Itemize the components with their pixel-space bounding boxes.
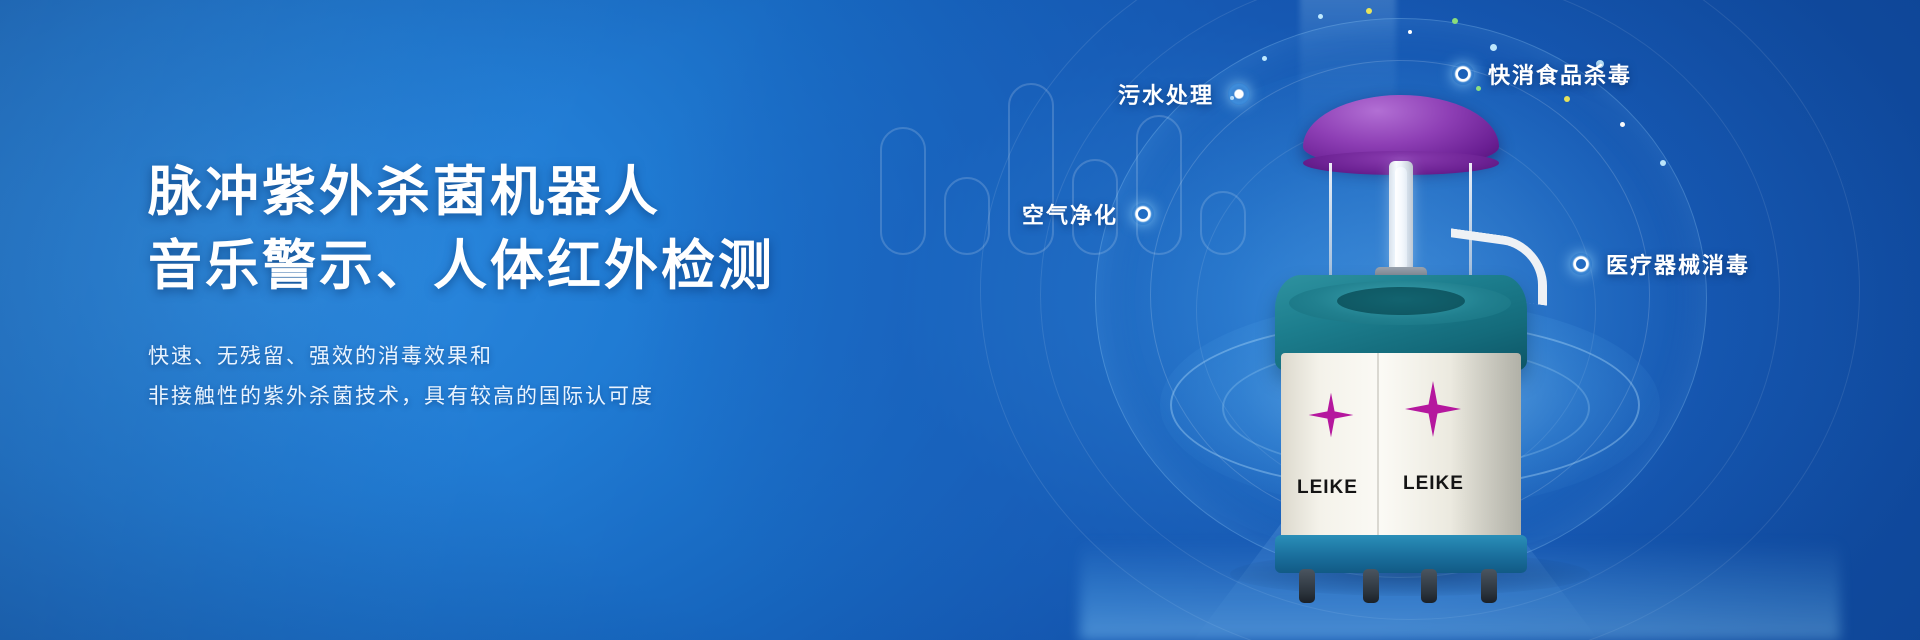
callout-medical-device-disinfection: 医疗器械消毒: [1570, 248, 1750, 280]
caster-wheel: [1363, 569, 1379, 603]
callout-label: 快消食品杀毒: [1488, 58, 1632, 90]
subcopy-block: 快速、无残留、强效的消毒效果和 非接触性的紫外杀菌技术，具有较高的国际认可度: [148, 337, 908, 417]
cabinet-base: [1275, 535, 1527, 573]
uv-lamp-tube-icon: [1395, 167, 1407, 271]
sparkle-dot: [1452, 18, 1458, 24]
sparkle-dot: [1318, 14, 1323, 19]
headline-line-1: 脉冲紫外杀菌机器人: [148, 155, 908, 229]
callout-node-icon: [1132, 203, 1154, 225]
subcopy-line-2: 非接触性的紫外杀菌技术，具有较高的国际认可度: [148, 377, 908, 417]
callout-node-icon: [1228, 83, 1250, 105]
subcopy-line-1: 快速、无残留、强效的消毒效果和: [148, 337, 908, 377]
callout-node-icon: [1570, 253, 1592, 275]
callout-label: 空气净化: [1022, 198, 1118, 230]
wave-bar: [944, 177, 990, 255]
sparkle-dot: [1262, 56, 1267, 61]
headline-line-2: 音乐警示、人体红外检测: [148, 229, 908, 303]
sparkle-dot: [1620, 122, 1625, 127]
sparkle-dot: [1490, 44, 1497, 51]
cabinet-body-edge: [1377, 353, 1379, 543]
callout-node-icon: [1452, 63, 1474, 85]
wave-bar: [1136, 115, 1182, 255]
callout-label: 污水处理: [1118, 78, 1214, 110]
callout-food-disinfection: 快消食品杀毒: [1452, 58, 1632, 90]
cabinet-top-recess: [1337, 287, 1465, 315]
callout-sewage-treatment: 污水处理: [1118, 78, 1250, 110]
brand-text-right: LEIKE: [1403, 473, 1464, 495]
caster-wheel: [1299, 569, 1315, 603]
cabinet-body-shading: [1451, 353, 1521, 543]
lamp-strut: [1329, 163, 1332, 275]
sparkle-dot: [1366, 8, 1372, 14]
caster-wheel: [1421, 569, 1437, 603]
sparkle-dot: [1408, 30, 1412, 34]
callout-air-purification: 空气净化: [1022, 198, 1154, 230]
sparkle-dot: [1564, 96, 1570, 102]
uv-disinfection-robot: LEIKE LEIKE: [1255, 95, 1545, 585]
wave-bar: [1200, 191, 1246, 255]
sparkle-dot: [1660, 160, 1666, 166]
product-banner: 脉冲紫外杀菌机器人 音乐警示、人体红外检测 快速、无残留、强效的消毒效果和 非接…: [0, 0, 1920, 640]
brand-text-left: LEIKE: [1297, 477, 1358, 499]
callout-label: 医疗器械消毒: [1606, 248, 1750, 280]
caster-wheel: [1481, 569, 1497, 603]
copy-block: 脉冲紫外杀菌机器人 音乐警示、人体红外检测 快速、无残留、强效的消毒效果和 非接…: [148, 155, 908, 417]
